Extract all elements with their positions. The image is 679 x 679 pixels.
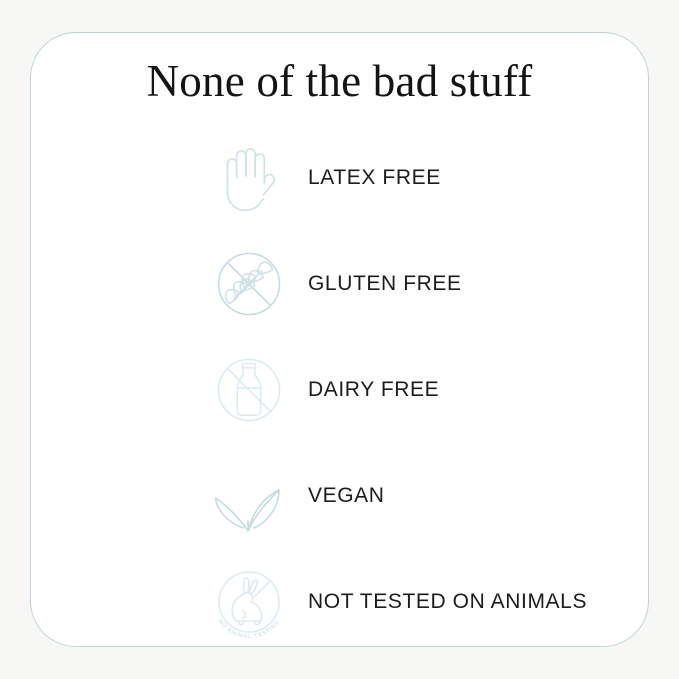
list-item-label: DAIRY FREE: [308, 378, 439, 402]
list-item: NO ANIMAL TESTING NOT TESTED ON ANIMALS: [31, 549, 650, 655]
sprout-leaves-icon: [201, 448, 297, 544]
list-item: LATEX FREE: [31, 125, 650, 231]
list-item: VEGAN: [31, 443, 650, 549]
no-dairy-bottle-icon: [201, 342, 297, 438]
hand-icon: [201, 130, 297, 226]
list-item: GLUTEN FREE: [31, 231, 650, 337]
claims-list: LATEX FREE: [31, 125, 650, 655]
list-item-label: GLUTEN FREE: [308, 272, 462, 296]
no-animal-testing-rabbit-icon: NO ANIMAL TESTING: [201, 554, 297, 650]
product-claims-card: None of the bad stuff LATEX FREE: [30, 32, 649, 647]
list-item-label: LATEX FREE: [308, 166, 441, 190]
list-item-label: NOT TESTED ON ANIMALS: [308, 590, 587, 614]
list-item: DAIRY FREE: [31, 337, 650, 443]
no-gluten-icon: [201, 236, 297, 332]
page-title: None of the bad stuff: [31, 59, 648, 104]
list-item-label: VEGAN: [308, 484, 385, 508]
